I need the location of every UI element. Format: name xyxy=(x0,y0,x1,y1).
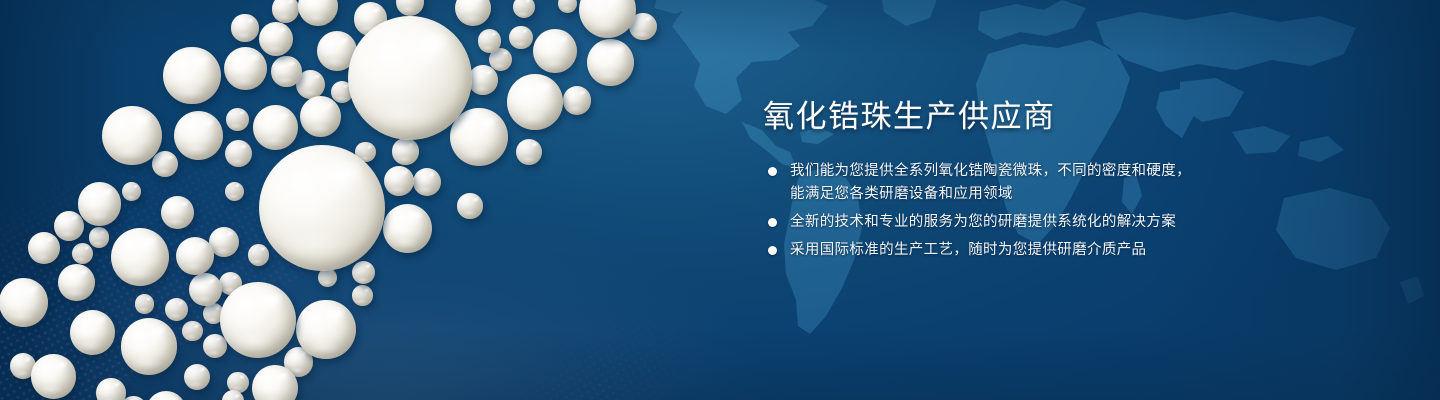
zirconia-bead xyxy=(455,0,491,26)
zirconia-bead xyxy=(516,139,542,165)
zirconia-bead xyxy=(296,300,355,359)
zirconia-bead xyxy=(203,334,227,358)
zirconia-bead xyxy=(54,211,84,241)
zirconia-bead xyxy=(226,108,249,131)
zirconia-bead xyxy=(174,111,223,160)
feature-list: 我们能为您提供全系列氧化锆陶瓷微珠，不同的密度和硬度，能满足您各类研磨设备和应用… xyxy=(763,160,1323,262)
zirconia-bead xyxy=(135,294,155,314)
zirconia-bead xyxy=(28,232,60,264)
zirconia-bead xyxy=(298,0,338,26)
zirconia-bead xyxy=(384,166,414,196)
zirconia-bead xyxy=(225,182,244,201)
zirconia-bead xyxy=(352,285,373,306)
zirconia-bead xyxy=(348,16,472,140)
zirconia-bead xyxy=(509,26,532,49)
zirconia-bead xyxy=(392,138,418,164)
zirconia-bead xyxy=(96,378,126,400)
zirconia-bead xyxy=(253,105,298,150)
zirconia-bead xyxy=(533,29,577,73)
zirconia-bead xyxy=(300,96,341,137)
zirconia-bead xyxy=(31,354,76,399)
feature-list-item-line: 采用国际标准的生产工艺，随时为您提供研磨介质产品 xyxy=(790,239,1323,262)
zirconia-beads-image xyxy=(0,0,760,400)
banner-content: 氧化锆珠生产供应商 我们能为您提供全系列氧化锆陶瓷微珠，不同的密度和硬度，能满足… xyxy=(763,100,1323,262)
zirconia-bead xyxy=(161,196,194,229)
hero-banner: 氧化锆珠生产供应商 我们能为您提供全系列氧化锆陶瓷微珠，不同的密度和硬度，能满足… xyxy=(0,0,1440,400)
zirconia-bead xyxy=(413,168,441,196)
zirconia-bead xyxy=(396,0,424,16)
zirconia-bead xyxy=(165,298,188,321)
zirconia-bead xyxy=(224,47,267,90)
page-title: 氧化锆珠生产供应商 xyxy=(763,100,1323,134)
zirconia-bead xyxy=(89,227,109,247)
feature-list-item-line: 我们能为您提供全系列氧化锆陶瓷微珠，不同的密度和硬度， xyxy=(790,160,1323,183)
zirconia-bead xyxy=(182,321,203,342)
zirconia-bead xyxy=(558,0,577,13)
zirconia-bead xyxy=(225,140,252,167)
feature-list-item: 我们能为您提供全系列氧化锆陶瓷微珠，不同的密度和硬度，能满足您各类研磨设备和应用… xyxy=(763,160,1323,206)
zirconia-bead xyxy=(189,273,222,306)
zirconia-bead xyxy=(72,243,93,264)
feature-list-item: 采用国际标准的生产工艺，随时为您提供研磨介质产品 xyxy=(763,239,1323,262)
zirconia-bead xyxy=(248,244,270,266)
bullet-dot-icon xyxy=(768,218,777,227)
zirconia-bead xyxy=(70,310,115,355)
bullet-dot-icon xyxy=(768,167,777,176)
feature-list-item-line: 能满足您各类研磨设备和应用领域 xyxy=(790,183,1323,206)
zirconia-bead xyxy=(220,282,296,358)
zirconia-bead xyxy=(457,193,482,218)
zirconia-bead xyxy=(252,365,298,400)
zirconia-bead xyxy=(259,22,293,56)
zirconia-bead xyxy=(163,47,221,105)
zirconia-bead xyxy=(468,65,498,95)
zirconia-bead xyxy=(352,261,375,284)
zirconia-bead xyxy=(507,74,563,130)
zirconia-bead xyxy=(271,56,301,86)
zirconia-bead xyxy=(152,151,178,177)
zirconia-bead xyxy=(58,264,95,301)
zirconia-bead xyxy=(102,106,161,165)
zirconia-bead xyxy=(78,182,121,225)
zirconia-bead xyxy=(513,0,535,18)
zirconia-bead xyxy=(272,0,300,23)
feature-list-item: 全新的技术和专业的服务为您的研磨提供系统化的解决方案 xyxy=(763,211,1323,234)
zirconia-bead xyxy=(579,0,636,38)
feature-list-item-line: 全新的技术和专业的服务为您的研磨提供系统化的解决方案 xyxy=(790,211,1323,234)
zirconia-bead xyxy=(587,39,634,86)
zirconia-bead xyxy=(122,182,141,201)
zirconia-bead xyxy=(383,204,432,253)
zirconia-bead xyxy=(111,228,169,286)
zirconia-bead xyxy=(176,237,214,275)
zirconia-bead xyxy=(121,318,177,374)
zirconia-bead xyxy=(231,14,258,41)
zirconia-bead xyxy=(450,108,508,166)
zirconia-bead xyxy=(259,145,385,271)
zirconia-bead xyxy=(0,278,48,327)
zirconia-bead xyxy=(478,29,501,52)
zirconia-bead xyxy=(563,86,592,115)
zirconia-bead xyxy=(184,364,211,391)
zirconia-bead xyxy=(146,391,187,400)
bullet-dot-icon xyxy=(768,246,777,255)
